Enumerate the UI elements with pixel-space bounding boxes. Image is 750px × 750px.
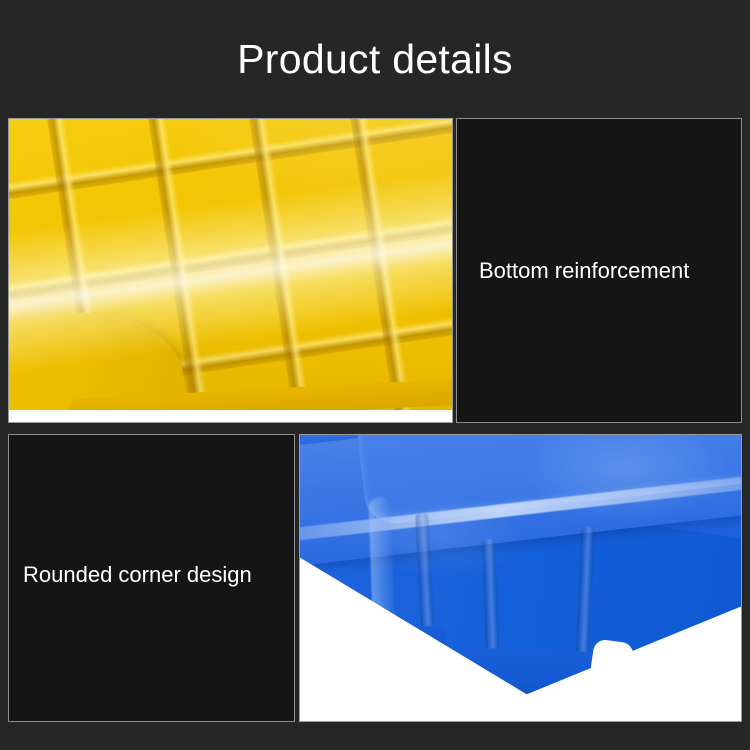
caption-panel-bottom-reinforcement: Bottom reinforcement — [456, 118, 742, 423]
caption-rounded-corner-design: Rounded corner design — [23, 561, 252, 589]
product-photo-bottom-reinforcement[interactable] — [8, 118, 453, 423]
caption-panel-rounded-corner-design: Rounded corner design — [8, 434, 295, 722]
blue-crate-photo — [300, 435, 741, 721]
product-photo-rounded-corner-design[interactable] — [299, 434, 742, 722]
page-title: Product details — [0, 34, 750, 84]
yellow-crate-photo — [9, 119, 452, 422]
caption-bottom-reinforcement: Bottom reinforcement — [479, 257, 689, 285]
product-details-page: Product details Bottom reinforcement Rou… — [0, 0, 750, 750]
photo-backdrop-strip — [9, 410, 452, 422]
